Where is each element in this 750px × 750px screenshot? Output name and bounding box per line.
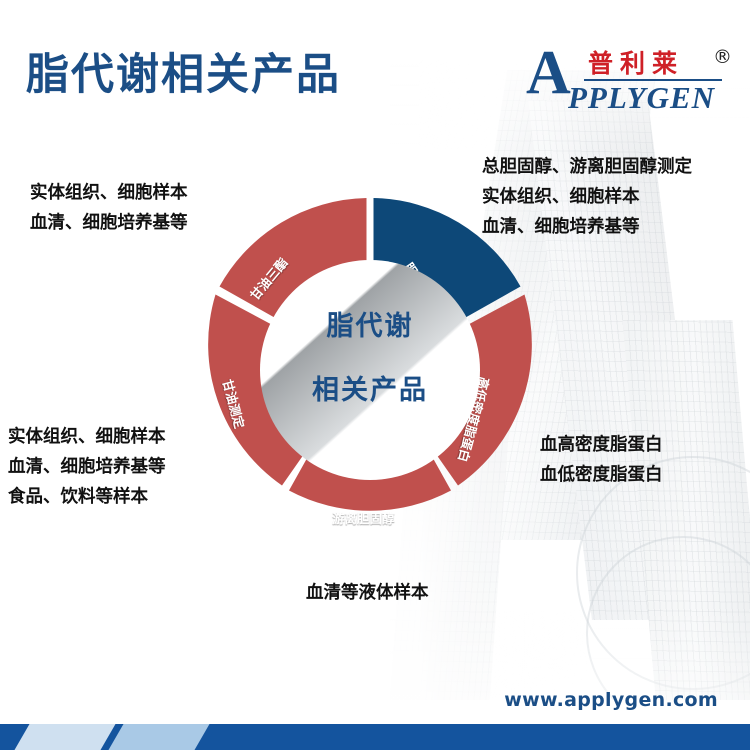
hub-title-line2: 相关产品 bbox=[260, 368, 480, 407]
donut-label-free-cholesterol: 游离胆固醇 bbox=[332, 508, 395, 527]
website-url[interactable]: www.applygen.com bbox=[504, 689, 718, 711]
donut-center-hub: 脂代谢 相关产品 bbox=[260, 260, 480, 480]
page-title: 脂代谢相关产品 bbox=[26, 40, 341, 102]
callout-line: 血低密度脂蛋白 bbox=[540, 460, 663, 490]
footer-accent-shape bbox=[202, 724, 337, 750]
callout-line: 实体组织、细胞样本 bbox=[30, 178, 188, 208]
logo-english-name: PPLYGEN bbox=[568, 80, 715, 116]
callout-bottom-center: 血清等液体样本 bbox=[306, 578, 429, 608]
callout-line: 血清、细胞培养基等 bbox=[482, 212, 692, 242]
callout-bottom-left: 实体组织、细胞样本 血清、细胞培养基等 食品、饮料等样本 bbox=[8, 422, 166, 512]
callout-line: 血高密度脂蛋白 bbox=[540, 430, 663, 460]
donut-chart: 胆固醇测定 高低密度脂蛋白 游离胆固醇 甘油测定 甘油三酯 脂代谢 相关产品 bbox=[190, 190, 550, 550]
footer-bar bbox=[0, 724, 750, 750]
callout-line: 血清等液体样本 bbox=[306, 578, 429, 608]
footer-accent-shape bbox=[14, 724, 115, 750]
callout-line: 血清、细胞培养基等 bbox=[8, 452, 166, 482]
hub-title-line1: 脂代谢 bbox=[260, 304, 480, 343]
callout-line: 食品、饮料等样本 bbox=[8, 482, 166, 512]
logo-letter-a: A bbox=[526, 42, 571, 104]
callout-line: 实体组织、细胞样本 bbox=[8, 422, 166, 452]
callout-line: 血清、细胞培养基等 bbox=[30, 208, 188, 238]
callout-top-right: 总胆固醇、游离胆固醇测定 实体组织、细胞样本 血清、细胞培养基等 bbox=[482, 152, 692, 242]
callout-line: 实体组织、细胞样本 bbox=[482, 182, 692, 212]
logo-chinese-name: 普利莱 bbox=[588, 44, 684, 80]
registered-trademark-icon: ® bbox=[713, 46, 732, 68]
poster-canvas: 脂代谢相关产品 A 普利莱 PPLYGEN ® 胆固醇测定 高低密度脂蛋白 游离… bbox=[0, 0, 750, 750]
callout-line: 总胆固醇、游离胆固醇测定 bbox=[482, 152, 692, 182]
company-logo: A 普利莱 PPLYGEN ® bbox=[518, 38, 734, 110]
footer-accent-shape bbox=[108, 724, 209, 750]
callout-top-left: 实体组织、细胞样本 血清、细胞培养基等 bbox=[30, 178, 188, 238]
callout-bottom-right: 血高密度脂蛋白 血低密度脂蛋白 bbox=[540, 430, 663, 490]
